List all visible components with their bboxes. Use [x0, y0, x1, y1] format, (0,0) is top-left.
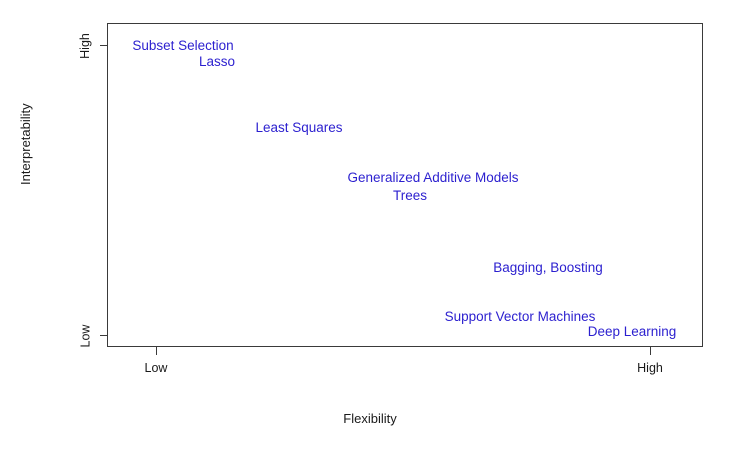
- data-label-layer: Subset Selection Lasso Least Squares Gen…: [107, 23, 703, 347]
- data-point-deep-learning: Deep Learning: [588, 325, 677, 339]
- data-point-gam: Generalized Additive Models: [347, 171, 518, 185]
- data-point-least-squares: Least Squares: [255, 121, 342, 135]
- x-tick-low-mark: [156, 347, 157, 355]
- flexibility-interpretability-chart: High Low Low High Flexibility Interpreta…: [0, 0, 740, 457]
- data-point-svm: Support Vector Machines: [445, 310, 596, 324]
- y-tick-label-low: Low: [78, 325, 92, 348]
- x-axis-title: Flexibility: [0, 411, 740, 426]
- x-tick-label-high: High: [637, 361, 663, 375]
- data-point-subset-selection: Subset Selection: [132, 39, 233, 53]
- y-tick-label-high: High: [78, 33, 92, 59]
- data-point-lasso: Lasso: [199, 55, 235, 69]
- data-point-bagging-boosting: Bagging, Boosting: [493, 261, 603, 275]
- x-tick-label-low: Low: [145, 361, 168, 375]
- x-tick-high-mark: [650, 347, 651, 355]
- data-point-trees: Trees: [393, 189, 427, 203]
- y-axis-title: Interpretability: [18, 103, 33, 185]
